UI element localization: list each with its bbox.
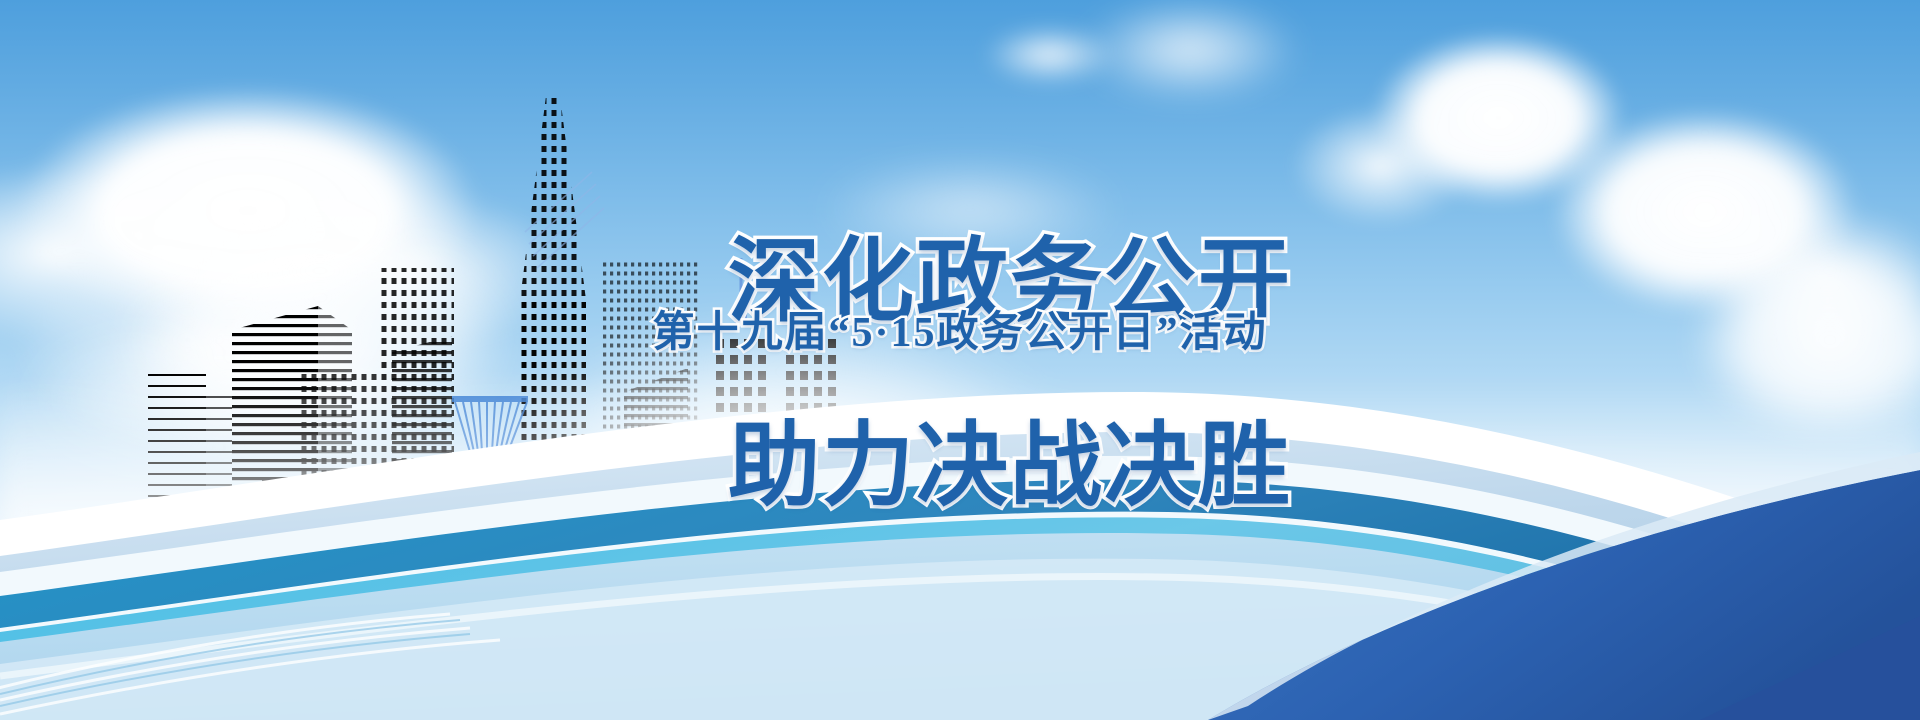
page-subtitle: 第十九届“5·15政务公开日”活动 [0,312,1920,354]
banner-root: 深化政务公开 助力决战决胜 第十九届“5·15政务公开日”活动 [0,0,1920,720]
headline-right: 助力决战决胜 [728,420,1292,512]
page-title: 深化政务公开 助力决战决胜 [0,144,1920,604]
